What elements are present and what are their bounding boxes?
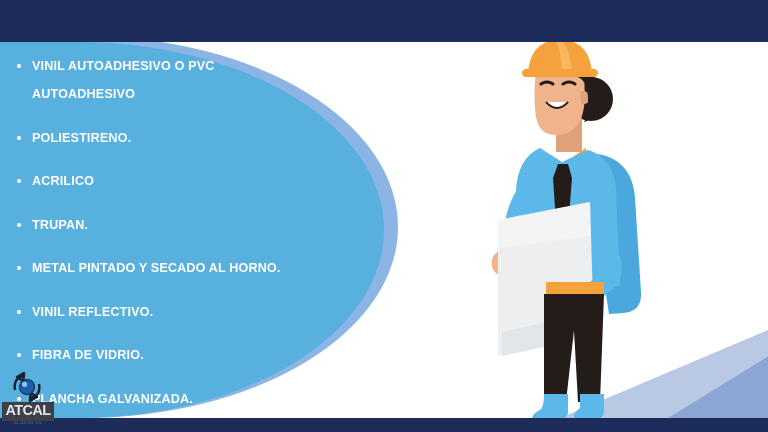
bullet-dot-icon xyxy=(17,179,21,183)
bullet-dot-icon xyxy=(17,353,21,357)
list-item: ACRILICO xyxy=(14,167,314,195)
footer-bar xyxy=(0,418,768,432)
materials-list: VINIL AUTOADHESIVO O PVC AUTOADHESIVO PO… xyxy=(14,52,314,428)
atcal-logo: ATCAL ALIADOS EN xyxy=(2,372,58,430)
slide-canvas: VINIL AUTOADHESIVO O PVC AUTOADHESIVO PO… xyxy=(0,0,768,432)
bullet-dot-icon xyxy=(17,310,21,314)
list-item: VINIL REFLECTIVO. xyxy=(14,298,314,326)
bullet-dot-icon xyxy=(17,64,21,68)
list-item-label: FIBRA DE VIDRIO. xyxy=(32,348,144,362)
list-item-label: VINIL AUTOADHESIVO O PVC AUTOADHESIVO xyxy=(32,59,215,101)
list-item-label: METAL PINTADO Y SECADO AL HORNO. xyxy=(32,261,281,275)
list-item-label: POLIESTIRENO. xyxy=(32,131,131,145)
list-item-label: ACRILICO xyxy=(32,174,94,188)
bullet-dot-icon xyxy=(17,223,21,227)
list-item: FIBRA DE VIDRIO. xyxy=(14,341,314,369)
logo-wordmark: ATCAL xyxy=(2,402,54,421)
eye-refresh-icon xyxy=(10,372,44,402)
logo-tagline: ALIADOS EN xyxy=(2,421,54,426)
list-item: TRUPAN. xyxy=(14,211,314,239)
bullet-dot-icon xyxy=(17,266,21,270)
list-item: METAL PINTADO Y SECADO AL HORNO. xyxy=(14,254,314,282)
list-item: VINIL AUTOADHESIVO O PVC AUTOADHESIVO xyxy=(14,52,282,108)
bullet-dot-icon xyxy=(17,136,21,140)
list-item: POLIESTIRENO. xyxy=(14,124,314,152)
engineer-illustration xyxy=(470,36,660,426)
header-bar xyxy=(0,0,768,42)
list-item: PLANCHA GALVANIZADA. xyxy=(14,385,314,413)
list-item-label: TRUPAN. xyxy=(32,218,88,232)
list-item-label: VINIL REFLECTIVO. xyxy=(32,305,153,319)
